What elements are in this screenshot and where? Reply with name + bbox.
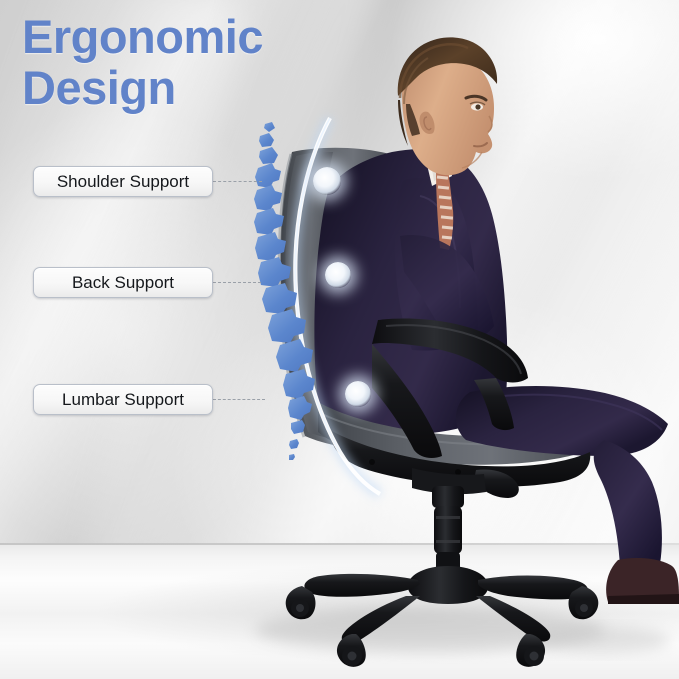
leader-line-lumbar	[213, 399, 265, 400]
callout-label: Lumbar Support	[62, 390, 184, 410]
spine-illustration	[238, 118, 358, 463]
lumbar-support-marker	[345, 381, 371, 407]
callout-shoulder-support[interactable]: Shoulder Support	[33, 166, 213, 197]
product-infographic: Ergonomic Design Shoulder Support Back S…	[0, 0, 679, 679]
leader-line-back	[213, 282, 261, 283]
callout-label: Back Support	[72, 273, 174, 293]
callout-label: Shoulder Support	[57, 172, 189, 192]
back-support-marker	[325, 262, 351, 288]
callout-lumbar-support[interactable]: Lumbar Support	[33, 384, 213, 415]
shoulder-support-marker	[313, 167, 341, 195]
page-title: Ergonomic Design	[22, 12, 352, 114]
leader-line-shoulder	[213, 181, 262, 182]
callout-back-support[interactable]: Back Support	[33, 267, 213, 298]
